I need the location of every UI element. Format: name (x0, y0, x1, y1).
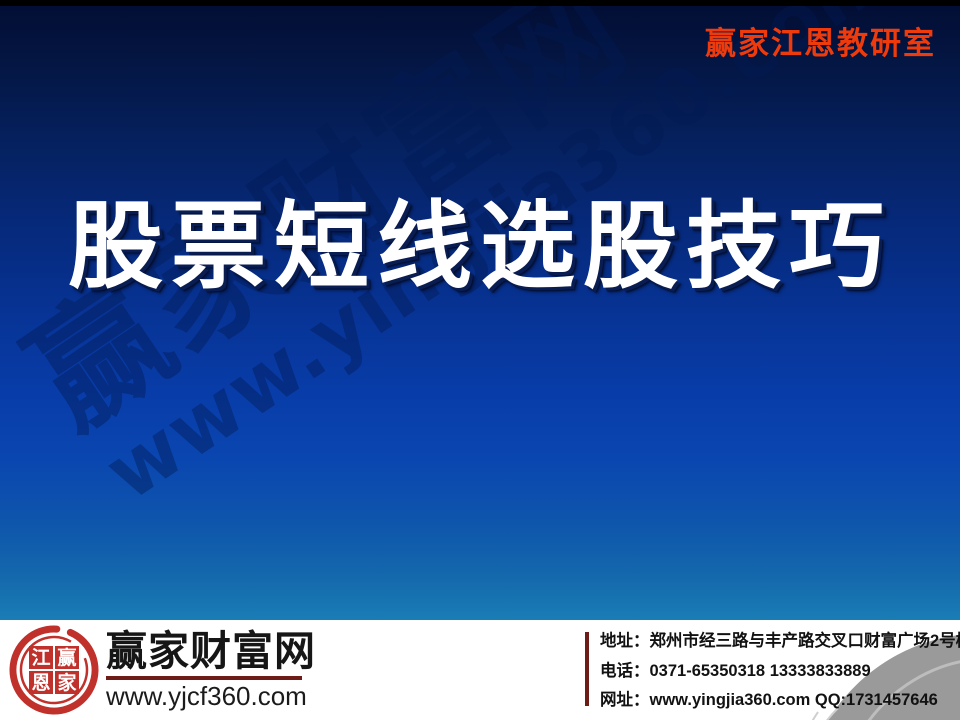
diagonal-watermark: 赢家财富网 www.yingjia360.com (10, 0, 781, 620)
contact-label-website: 网址： (600, 690, 650, 709)
watermark-url-text: www.yingjia360.com (93, 95, 661, 513)
presentation-slide: 赢家财富网 www.yingjia360.com 赢家江恩教研室 股票短线选股技… (0, 0, 960, 720)
footer-vertical-divider (585, 632, 589, 706)
brand-website-url[interactable]: www.yjcf360.com (106, 683, 316, 709)
brand-logo[interactable]: 江 赢 恩 家 赢家财富网 www.yjcf360.com (8, 624, 316, 716)
contact-line-website: 网址：www.yingjia360.com QQ:1731457646 (600, 687, 960, 714)
brand-text-block: 赢家财富网 www.yjcf360.com (106, 631, 316, 709)
contact-label-address: 地址： (600, 631, 650, 650)
seal-char-3: 家 (57, 671, 77, 694)
brand-name: 赢家财富网 (106, 631, 316, 673)
contact-value-address: 郑州市经三路与丰产路交叉口财富广场2号楼4楼C户 (650, 632, 960, 650)
contact-line-address: 地址：郑州市经三路与丰产路交叉口财富广场2号楼4楼C户 (600, 628, 960, 655)
contact-value-website[interactable]: www.yingjia360.com QQ:1731457646 (650, 691, 938, 709)
page-title: 股票短线选股技巧 (0, 196, 960, 299)
seal-char-1: 赢 (57, 646, 76, 669)
seal-char-0: 江 (31, 647, 50, 669)
brand-underline-rule (106, 676, 302, 680)
contact-info-block: 地址：郑州市经三路与丰产路交叉口财富广场2号楼4楼C户 电话：0371-6535… (600, 628, 960, 714)
contact-line-phone: 电话：0371-65350318 13333833889 (600, 658, 960, 685)
slide-stage-background: 赢家财富网 www.yingjia360.com 赢家江恩教研室 股票短线选股技… (0, 0, 960, 620)
footer-bar: 江 赢 恩 家 赢家财富网 www.yjcf360.com 地址：郑州市经三路与… (0, 620, 960, 720)
seal-logo-icon: 江 赢 恩 家 (8, 624, 100, 716)
contact-value-phone: 0371-65350318 13333833889 (650, 662, 871, 680)
contact-label-phone: 电话： (600, 661, 650, 680)
top-black-strip (0, 0, 960, 6)
seal-char-2: 恩 (31, 672, 50, 694)
header-title: 赢家江恩教研室 (705, 18, 936, 63)
